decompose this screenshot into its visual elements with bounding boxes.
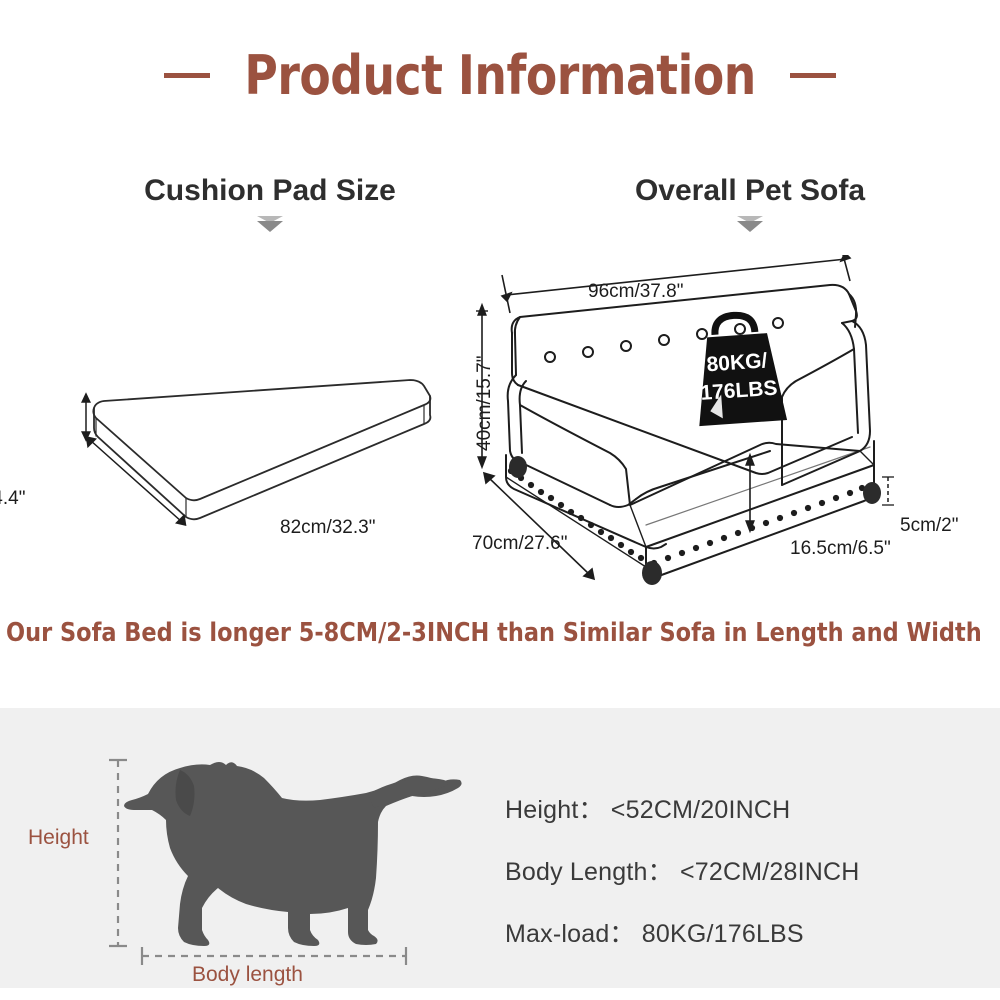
dog-silhouette-icon xyxy=(124,762,462,946)
footer-strip xyxy=(0,988,1000,1000)
title-dash-left xyxy=(164,73,210,78)
height-measure-line xyxy=(109,760,127,946)
sofa-heading-label: Overall Pet Sofa xyxy=(560,174,940,208)
cushion-width-label: 82cm/32.3" xyxy=(280,517,375,539)
dog-size-guide-svg xyxy=(30,718,470,980)
section-heading-cushion: Cushion Pad Size xyxy=(60,174,480,236)
double-chevron-down-icon xyxy=(737,216,763,236)
double-chevron-down-icon xyxy=(257,216,283,236)
dog-height-label: Height xyxy=(28,826,89,850)
title-text: Product Information xyxy=(244,44,755,107)
dog-body-length-label: Body length xyxy=(192,963,303,987)
sofa-height-label: 40cm/15.7" xyxy=(474,356,496,451)
page-title: Product Information xyxy=(0,44,1000,107)
cushion-pad-svg xyxy=(0,360,440,580)
pet-sofa-diagram: 80KG/ 176LBS 96cm/37.8" 40cm/15.7" 70cm/… xyxy=(460,255,1000,605)
highlight-banner: Our Sofa Bed is longer 5-8CM/2-3INCH tha… xyxy=(0,618,1000,648)
sofa-depth-label: 70cm/27.6" xyxy=(472,533,567,555)
banner-text: Our Sofa Bed is longer 5-8CM/2-3INCH tha… xyxy=(6,618,982,648)
pet-spec-list: Height： <52CM/20INCH Body Length： <72CM/… xyxy=(505,790,975,950)
cushion-depth-label: 62cm/24.4" xyxy=(0,488,25,510)
cushion-heading-label: Cushion Pad Size xyxy=(60,174,480,208)
spec-body-length: Body Length： <72CM/28INCH xyxy=(505,852,975,888)
cushion-pad-diagram: 6cm/2.4" 62cm/24.4" 82cm/32.3" xyxy=(0,360,440,580)
weight-badge-line1: 80KG/ xyxy=(706,349,768,376)
spec-max-load: Max-load： 80KG/176LBS xyxy=(505,914,975,950)
sofa-foot-height-label: 5cm/2" xyxy=(900,515,958,537)
sofa-width-label: 96cm/37.8" xyxy=(588,281,683,303)
section-heading-sofa: Overall Pet Sofa xyxy=(560,174,940,236)
sofa-seat-height-label: 16.5cm/6.5" xyxy=(790,538,891,560)
product-information-infographic: Product Information Cushion Pad Size Ove… xyxy=(0,0,1000,1000)
spec-height: Height： <52CM/20INCH xyxy=(505,790,975,826)
pet-size-guide-figure: Height Body length xyxy=(30,718,470,980)
title-dash-right xyxy=(790,73,836,78)
weight-icon: 80KG/ 176LBS xyxy=(692,312,787,426)
